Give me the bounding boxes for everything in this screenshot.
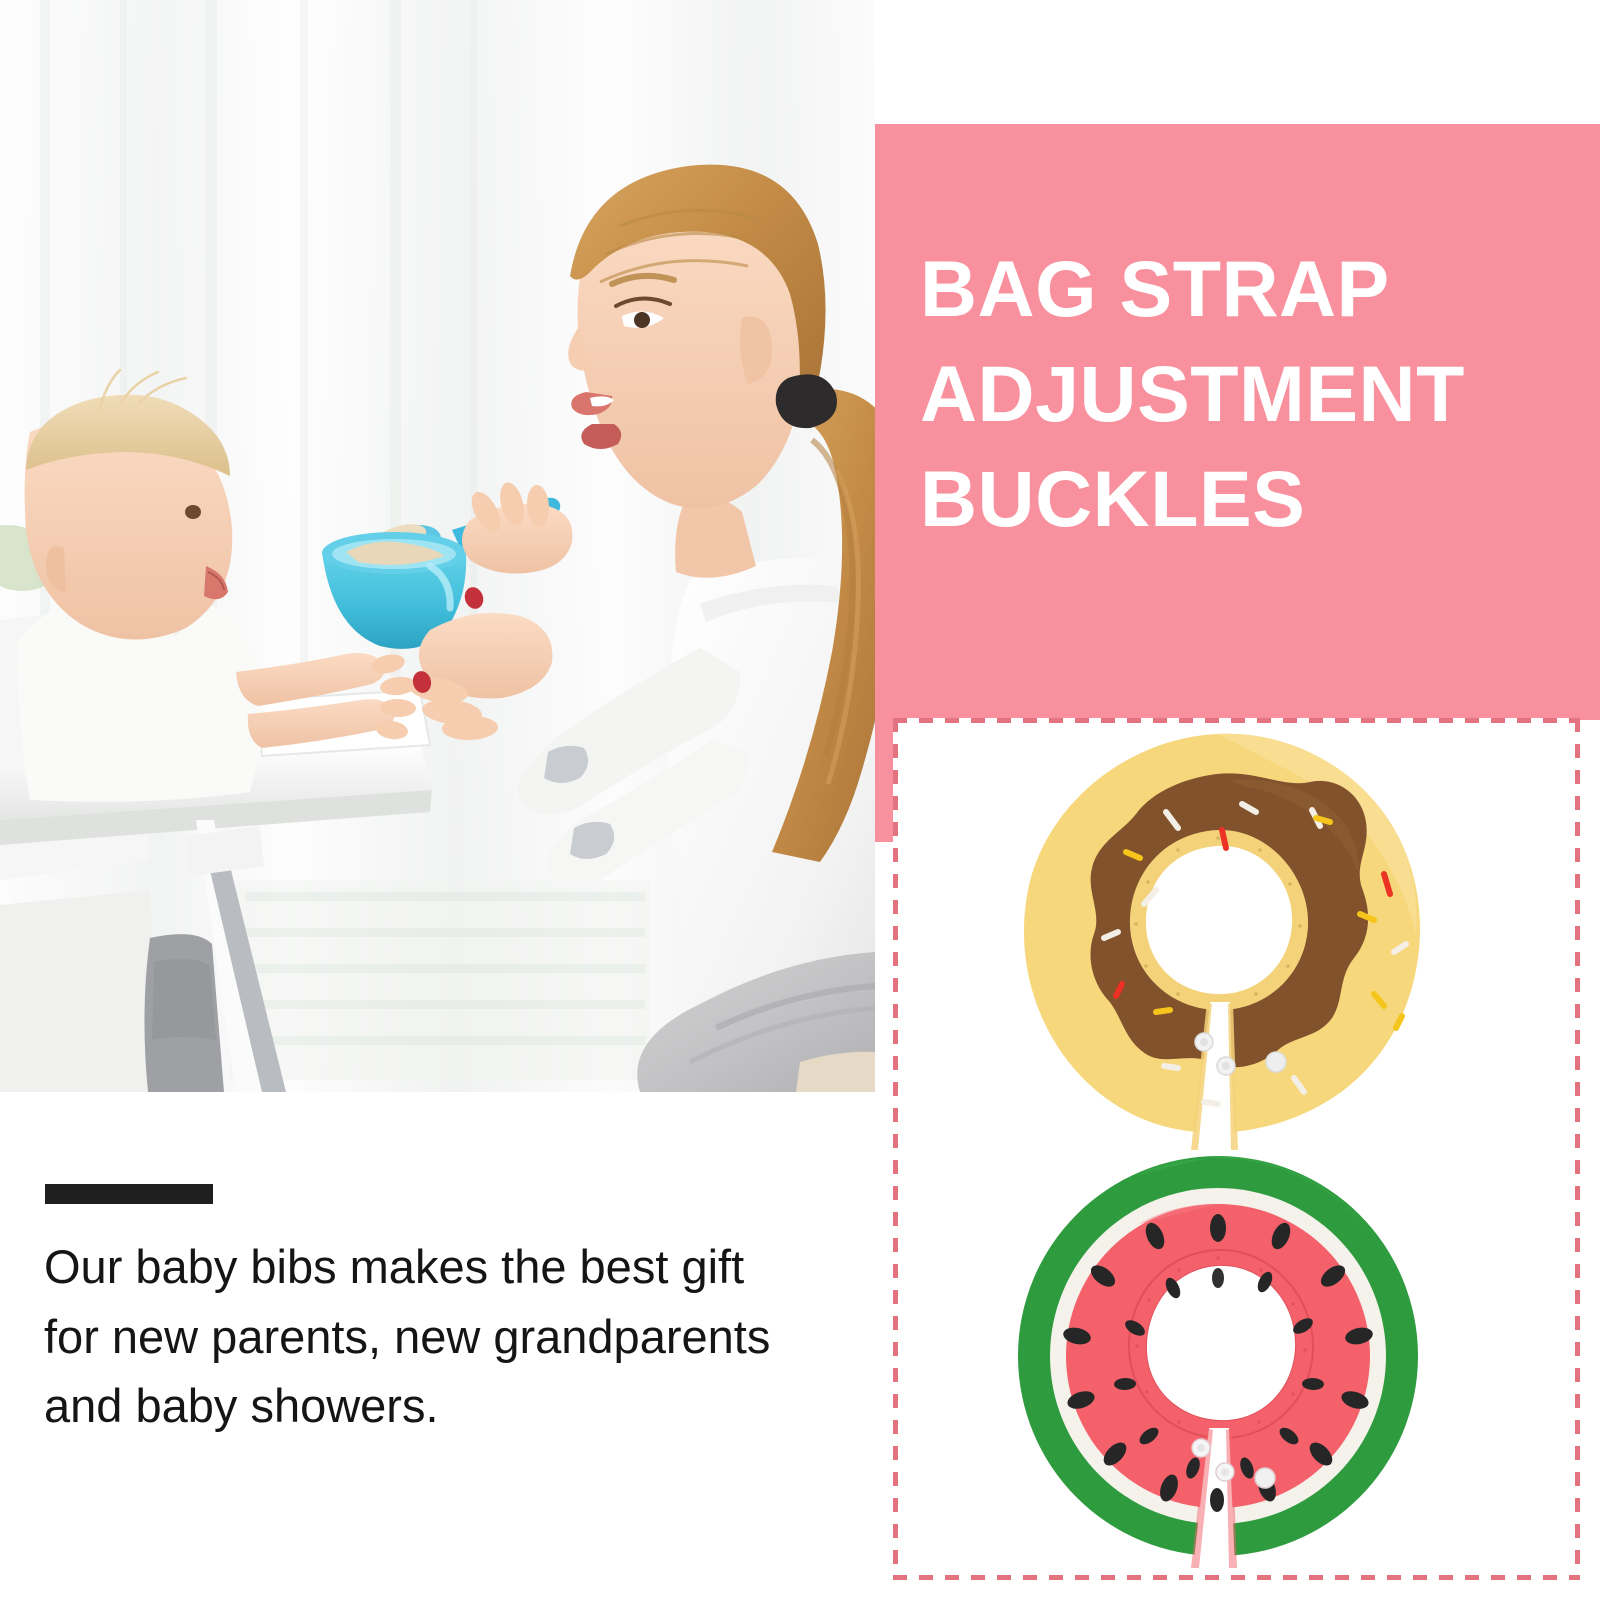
donut-bib-image xyxy=(998,726,1438,1156)
accent-bar xyxy=(45,1184,213,1204)
product-marketing-page: BAG STRAP ADJUSTMENT BUCKLES xyxy=(0,0,1600,1600)
panel-dashed-border-right xyxy=(1575,718,1580,1580)
donut-bib-illustration xyxy=(998,726,1438,1156)
watermelon-bib-image xyxy=(1003,1148,1433,1573)
lifestyle-photo-illustration xyxy=(0,0,875,1092)
body-copy-text: Our baby bibs makes the best gift for ne… xyxy=(44,1232,872,1441)
product-showcase-panel xyxy=(893,718,1580,1580)
panel-dashed-border-top xyxy=(893,718,1580,723)
panel-dashed-border-bottom xyxy=(893,1575,1580,1580)
headline-text: BAG STRAP ADJUSTMENT BUCKLES xyxy=(920,236,1580,551)
watermelon-bib-illustration xyxy=(1003,1148,1433,1573)
panel-dashed-border-left xyxy=(893,718,898,1580)
lifestyle-photo xyxy=(0,0,875,1092)
